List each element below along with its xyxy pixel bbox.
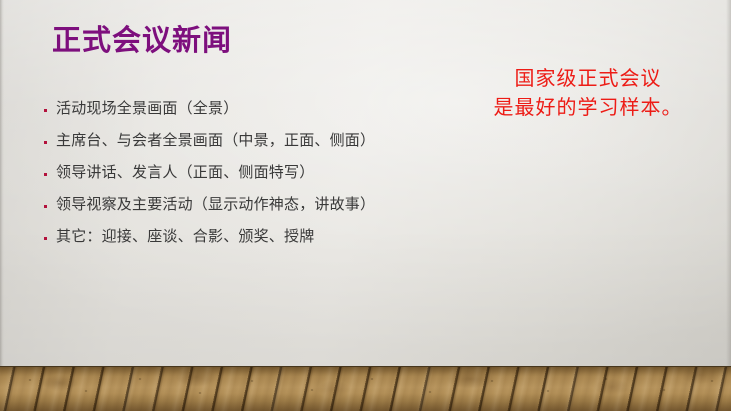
list-item-label: 其它：迎接、座谈、合影、颁奖、授牌 [56,226,314,248]
highlight-quote-line-2: 是最好的学习样本。 [452,93,724,122]
floor-shading-overlay [0,367,731,411]
list-item: 领导讲话、发言人（正面、侧面特写） [44,162,474,194]
list-item: 活动现场全景画面（全景） [44,98,474,130]
bullet-marker-icon [44,194,56,217]
presentation-slide: 正式会议新闻 活动现场全景画面（全景） 主席台、与会者全景画面（中景，正面、侧面… [0,0,731,411]
bullet-marker-icon [44,162,56,185]
list-item: 领导视察及主要活动（显示动作神态，讲故事） [44,194,474,226]
list-item: 其它：迎接、座谈、合影、颁奖、授牌 [44,226,474,258]
slide-title: 正式会议新闻 [52,24,232,58]
highlight-quote-line-1: 国家级正式会议 [452,64,724,93]
list-item-label: 主席台、与会者全景画面（中景，正面、侧面） [56,130,375,152]
list-item-label: 领导讲话、发言人（正面、侧面特写） [56,162,314,184]
wall-left-edge-shadow [0,0,4,367]
list-item: 主席台、与会者全景画面（中景，正面、侧面） [44,130,474,162]
bullet-marker-icon [44,226,56,249]
list-item-label: 活动现场全景画面（全景） [56,98,238,120]
wooden-floor [0,367,731,411]
list-item-label: 领导视察及主要活动（显示动作神态，讲故事） [56,194,375,216]
bullet-marker-icon [44,130,56,153]
bullet-marker-icon [44,98,56,121]
wall-right-edge-shadow [726,0,731,367]
bullet-list: 活动现场全景画面（全景） 主席台、与会者全景画面（中景，正面、侧面） 领导讲话、… [44,98,474,258]
highlight-quote: 国家级正式会议 是最好的学习样本。 [452,64,724,122]
